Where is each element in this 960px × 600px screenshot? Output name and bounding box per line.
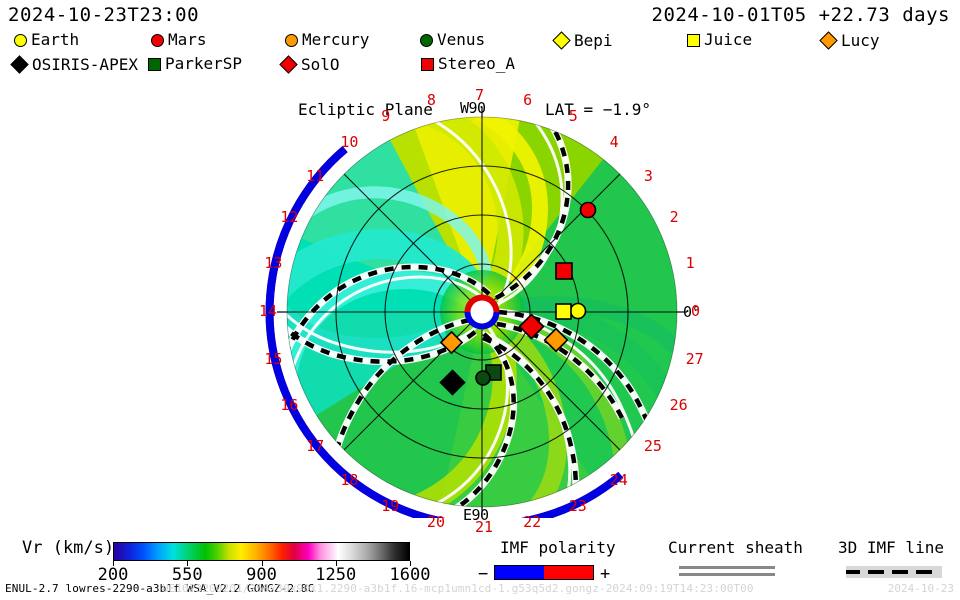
angular-tick-3: 3 <box>644 169 653 184</box>
imf-polarity-title: IMF polarity <box>500 538 616 557</box>
juice-marker-icon <box>687 34 700 47</box>
legend-label-earth: Earth <box>31 32 79 48</box>
parkersp-marker-icon <box>148 58 161 71</box>
stereo-a-marker-icon <box>421 58 434 71</box>
object-legend: Earth Mars Mercury Venus Bepi Juice Lucy… <box>8 32 952 80</box>
legend-label-venus: Venus <box>437 32 485 48</box>
legend-label-stereo-a: Stereo_A <box>438 56 515 72</box>
legend-item-bepi[interactable]: Bepi <box>553 32 613 49</box>
legend-label-lucy: Lucy <box>841 33 880 49</box>
legend-item-parkersp[interactable]: ParkerSP <box>148 56 242 72</box>
body-marker-earth[interactable] <box>571 304 586 319</box>
angular-tick-10: 10 <box>340 135 358 150</box>
angular-tick-12: 12 <box>280 210 298 225</box>
legend-label-mercury: Mercury <box>302 32 369 48</box>
legend-item-mercury[interactable]: Mercury <box>285 32 369 48</box>
body-marker-juice[interactable] <box>556 304 571 319</box>
current-sheath-sample <box>679 566 775 579</box>
object-legend-row-1: Earth Mars Mercury Venus Bepi Juice Lucy <box>8 32 952 56</box>
imf-dash-3 <box>892 570 908 574</box>
angular-tick-20: 20 <box>427 515 445 530</box>
legend-item-earth[interactable]: Earth <box>14 32 79 48</box>
legend-label-juice: Juice <box>704 32 752 48</box>
osiris-apex-marker-icon <box>10 55 28 73</box>
object-legend-row-2: OSIRIS-APEX ParkerSP SolO Stereo_A <box>8 56 952 80</box>
polar-heatmap-canvas[interactable] <box>0 88 960 518</box>
imf-3d-line-title: 3D IMF line <box>838 538 944 557</box>
angular-tick-21: 21 <box>475 520 493 535</box>
legend-item-mars[interactable]: Mars <box>151 32 207 48</box>
earth-marker-icon <box>14 34 27 47</box>
current-sheath-title: Current sheath <box>668 538 803 557</box>
lucy-marker-icon <box>819 31 837 49</box>
legend-item-solo[interactable]: SolO <box>280 56 340 73</box>
angular-tick-24: 24 <box>610 473 628 488</box>
imf-negative-swatch <box>495 566 544 579</box>
legend-item-juice[interactable]: Juice <box>687 32 752 48</box>
legend-item-lucy[interactable]: Lucy <box>820 32 880 49</box>
angular-tick-8: 8 <box>427 93 436 108</box>
legend-item-venus[interactable]: Venus <box>420 32 485 48</box>
body-marker-mars[interactable] <box>581 203 596 218</box>
angular-tick-22: 22 <box>523 515 541 530</box>
sun-marker <box>465 295 500 330</box>
angular-tick-6: 6 <box>523 93 532 108</box>
imf-dash-4 <box>916 570 932 574</box>
current-sheath-line-bottom <box>679 573 775 576</box>
legend-label-parkersp: ParkerSP <box>165 56 242 72</box>
run-start-timestamp: 2024-10-01T05 +22.73 days <box>652 4 950 26</box>
angular-tick-0: 0 <box>691 304 700 319</box>
legend-label-mars: Mars <box>168 32 207 48</box>
imf-dash-2 <box>868 570 884 574</box>
angular-tick-15: 15 <box>264 352 282 367</box>
angular-tick-18: 18 <box>340 473 358 488</box>
footer-date: 2024-10-23 <box>888 582 954 595</box>
legend-label-bepi: Bepi <box>574 33 613 49</box>
imf-dash-1 <box>846 570 860 574</box>
angular-tick-23: 23 <box>569 499 587 514</box>
ecliptic-plane-plot[interactable]: Ecliptic Plane LAT = −1.9° W90 E90 0° <box>0 88 960 518</box>
imf-polarity-plus-label: + <box>600 564 610 584</box>
angular-tick-4: 4 <box>610 135 619 150</box>
angular-tick-17: 17 <box>306 439 324 454</box>
solo-marker-icon <box>279 55 297 73</box>
mars-marker-icon <box>151 34 164 47</box>
vr-colorbar[interactable] <box>113 542 410 561</box>
colorbar-label: Vr (km/s) <box>22 538 114 558</box>
body-marker-stereo-a[interactable] <box>556 263 572 279</box>
angular-tick-7: 7 <box>475 88 484 103</box>
current-timestamp: 2024-10-23T23:00 <box>8 4 199 26</box>
angular-tick-26: 26 <box>670 398 688 413</box>
imf-positive-swatch <box>544 566 593 579</box>
imf-polarity-bar <box>494 565 594 580</box>
legend-label-solo: SolO <box>301 57 340 73</box>
body-marker-venus[interactable] <box>476 371 490 385</box>
angular-tick-9: 9 <box>381 109 390 124</box>
angular-tick-1: 1 <box>686 256 695 271</box>
angular-tick-14: 14 <box>259 304 277 319</box>
angular-tick-2: 2 <box>670 210 679 225</box>
legend-item-osiris-apex[interactable]: OSIRIS-APEX <box>11 56 138 73</box>
imf-polarity-minus-label: − <box>478 564 488 584</box>
angular-tick-25: 25 <box>644 439 662 454</box>
angular-tick-13: 13 <box>264 256 282 271</box>
legend-item-stereo-a[interactable]: Stereo_A <box>421 56 515 72</box>
mercury-marker-icon <box>285 34 298 47</box>
bepi-marker-icon <box>552 31 570 49</box>
angular-tick-19: 19 <box>381 499 399 514</box>
footer-watermark: UE1023200201/256x30x90x1.2290-a3b1f.16-m… <box>162 582 754 595</box>
angular-tick-5: 5 <box>569 109 578 124</box>
angular-tick-16: 16 <box>280 398 298 413</box>
venus-marker-icon <box>420 34 433 47</box>
imf-3d-line-sample <box>846 566 942 578</box>
angular-tick-27: 27 <box>686 352 704 367</box>
legend-label-osiris-apex: OSIRIS-APEX <box>32 57 138 73</box>
angular-tick-11: 11 <box>306 169 324 184</box>
